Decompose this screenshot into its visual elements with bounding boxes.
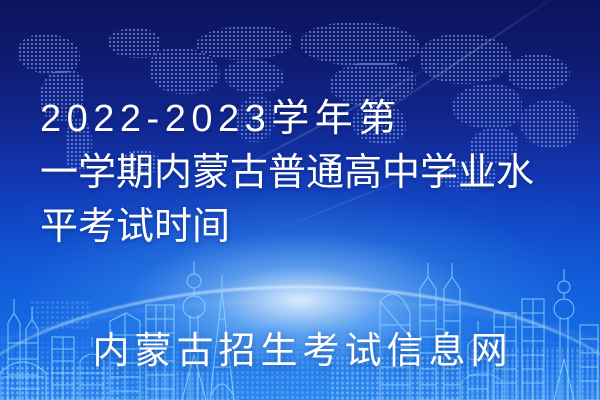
headline-line-1: 2022-2023学年第 xyxy=(40,92,600,146)
page-title: 2022-2023学年第 一学期内蒙古普通高中学业水 平考试时间 xyxy=(40,92,600,254)
pixel-block xyxy=(30,300,90,330)
headline-line-3: 平考试时间 xyxy=(40,200,600,254)
headline-line-2: 一学期内蒙古普通高中学业水 xyxy=(40,146,600,200)
banner-image: 2022-2023学年第 一学期内蒙古普通高中学业水 平考试时间 内蒙古招生考试… xyxy=(0,0,600,400)
site-name: 内蒙古招生考试信息网 xyxy=(0,328,600,374)
pixel-block xyxy=(150,372,230,400)
